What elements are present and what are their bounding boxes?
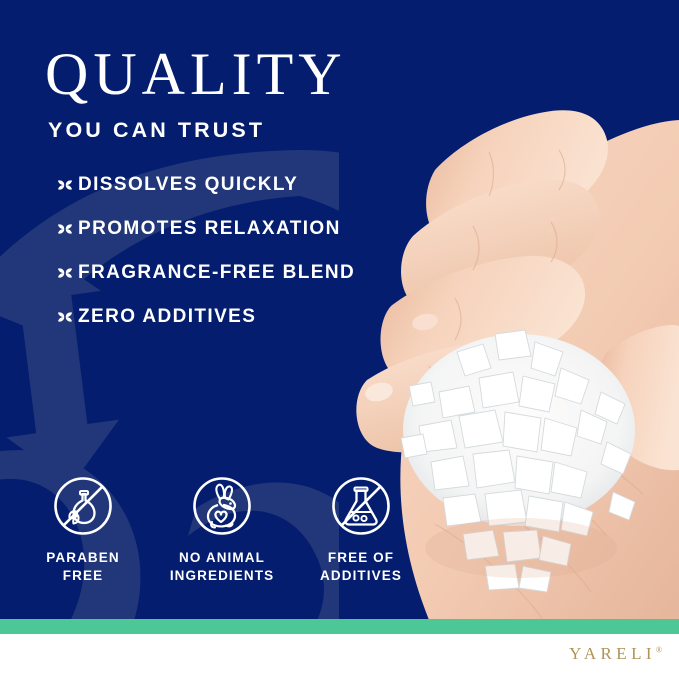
- page-title: QUALITY: [45, 44, 425, 104]
- rabbit-heart-icon: [190, 474, 254, 538]
- badge-no-animal-ingredients: NO ANIMAL INGREDIENTS: [161, 474, 283, 585]
- benefit-item: FRAGRANCE-FREE BLEND: [56, 251, 456, 295]
- brand-bar: YARELI®: [0, 634, 679, 679]
- headline-block: QUALITY YOU CAN TRUST: [45, 44, 425, 143]
- benefit-label: PROMOTES RELAXATION: [78, 218, 341, 240]
- bowtie-bullet-icon: [56, 176, 74, 194]
- benefit-item: PROMOTES RELAXATION: [56, 207, 456, 251]
- badge-label-line2: ADDITIVES: [320, 568, 402, 583]
- bowtie-bullet-icon: [56, 308, 74, 326]
- product-marketing-image: QUALITY YOU CAN TRUST DISSOLVES QUICKLY …: [0, 0, 679, 679]
- badge-label-line1: PARABEN: [46, 550, 119, 565]
- registered-trademark-icon: ®: [656, 645, 662, 654]
- badge-free-of-additives: FREE OF ADDITIVES: [300, 474, 422, 585]
- badge-label-line1: FREE OF: [328, 550, 394, 565]
- bowtie-bullet-icon: [56, 220, 74, 238]
- badge-label-line1: NO ANIMAL: [179, 550, 265, 565]
- no-additives-flask-icon: [329, 474, 393, 538]
- no-paraben-bottle-icon: [51, 474, 115, 538]
- teal-divider-rule: [0, 619, 679, 634]
- badge-label: PARABEN FREE: [46, 549, 119, 585]
- benefit-label: FRAGRANCE-FREE BLEND: [78, 262, 355, 284]
- benefit-label: ZERO ADDITIVES: [78, 306, 256, 328]
- benefits-list: DISSOLVES QUICKLY PROMOTES RELAXATION FR…: [56, 163, 456, 339]
- certification-badges: PARABEN FREE N: [22, 474, 422, 585]
- brand-logo-text: YARELI®: [569, 644, 662, 664]
- badge-label-line2: FREE: [63, 568, 103, 583]
- badge-paraben-free: PARABEN FREE: [22, 474, 144, 585]
- badge-label: NO ANIMAL INGREDIENTS: [170, 549, 274, 585]
- bowtie-bullet-icon: [56, 264, 74, 282]
- badge-label: FREE OF ADDITIVES: [320, 549, 402, 585]
- brand-name-text: YARELI: [569, 644, 656, 663]
- benefit-label: DISSOLVES QUICKLY: [78, 174, 298, 196]
- page-subtitle: YOU CAN TRUST: [48, 118, 425, 143]
- benefit-item: ZERO ADDITIVES: [56, 295, 456, 339]
- badge-label-line2: INGREDIENTS: [170, 568, 274, 583]
- benefit-item: DISSOLVES QUICKLY: [56, 163, 456, 207]
